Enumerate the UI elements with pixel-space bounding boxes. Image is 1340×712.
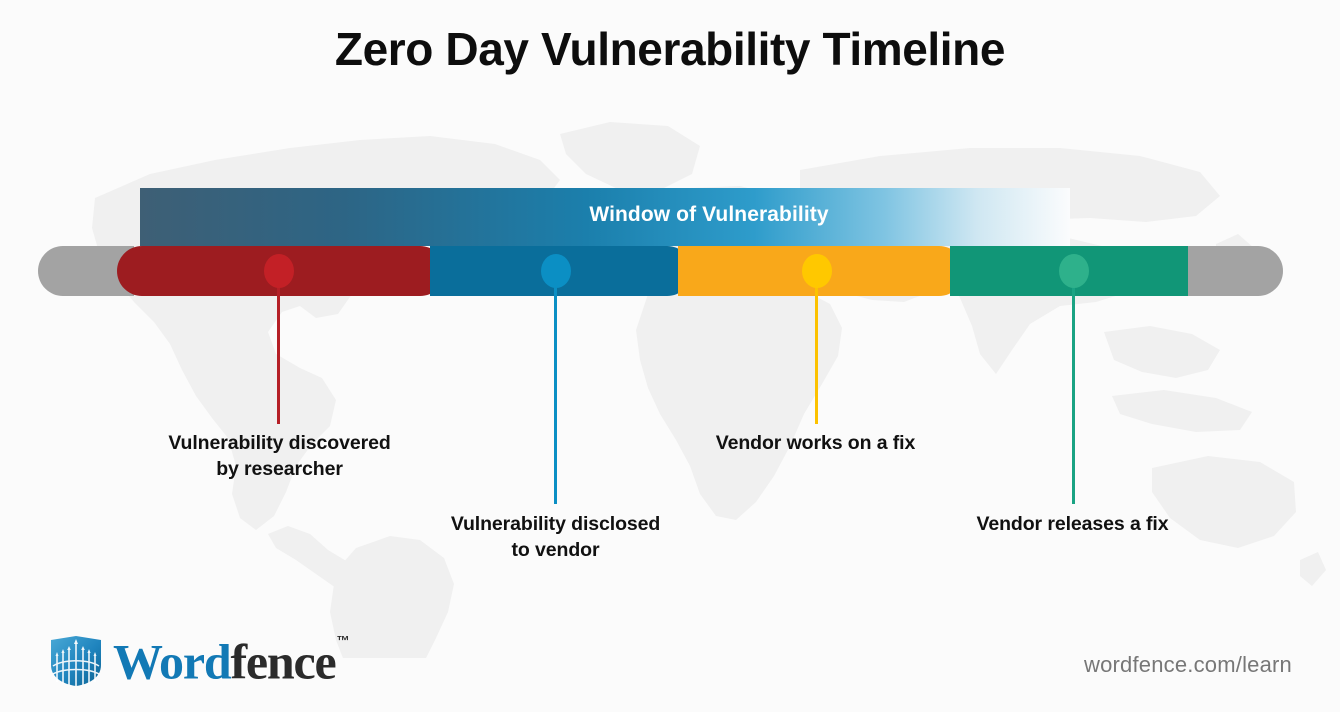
milestone-label-line1: Vulnerability discovered bbox=[117, 430, 442, 456]
milestone-dot-disclosed[interactable] bbox=[541, 254, 571, 288]
connector-line-disclosed bbox=[554, 286, 557, 504]
milestone-label-vendor-works: Vendor works on a fix bbox=[653, 430, 978, 456]
milestone-dot-vendor-works[interactable] bbox=[802, 254, 832, 288]
connector-line-vendor-works bbox=[815, 286, 818, 424]
milestone-label-discovered: Vulnerability discoveredby researcher bbox=[117, 430, 442, 482]
milestone-label-disclosed: Vulnerability disclosedto vendor bbox=[393, 511, 718, 563]
connector-line-vendor-releases bbox=[1072, 286, 1075, 504]
milestone-dot-vendor-releases[interactable] bbox=[1059, 254, 1089, 288]
wordfence-shield-icon bbox=[48, 635, 104, 687]
window-of-vulnerability-label: Window of Vulnerability bbox=[140, 203, 1278, 227]
milestone-label-line2: to vendor bbox=[393, 537, 718, 563]
timeline-track bbox=[0, 246, 1340, 296]
page-title: Zero Day Vulnerability Timeline bbox=[0, 22, 1340, 76]
milestone-label-line1: Vendor releases a fix bbox=[910, 511, 1235, 537]
connector-line-discovered bbox=[277, 286, 280, 424]
timeline-segment-end-cap bbox=[1188, 246, 1283, 296]
wordmark-fence: fence bbox=[230, 633, 335, 689]
wordmark-word: Word bbox=[113, 633, 230, 689]
milestone-label-line2: by researcher bbox=[117, 456, 442, 482]
milestone-dot-discovered[interactable] bbox=[264, 254, 294, 288]
milestone-label-vendor-releases: Vendor releases a fix bbox=[910, 511, 1235, 537]
infographic-canvas: Zero Day Vulnerability Timeline Window o… bbox=[0, 0, 1340, 712]
world-map-background bbox=[0, 78, 1340, 658]
milestone-label-line1: Vendor works on a fix bbox=[653, 430, 978, 456]
wordfence-wordmark: Wordfence™ bbox=[113, 632, 349, 687]
trademark-symbol: ™ bbox=[337, 633, 350, 648]
wordfence-logo: Wordfence™ bbox=[48, 633, 349, 689]
site-url[interactable]: wordfence.com/learn bbox=[1084, 652, 1292, 678]
milestone-label-line1: Vulnerability disclosed bbox=[393, 511, 718, 537]
